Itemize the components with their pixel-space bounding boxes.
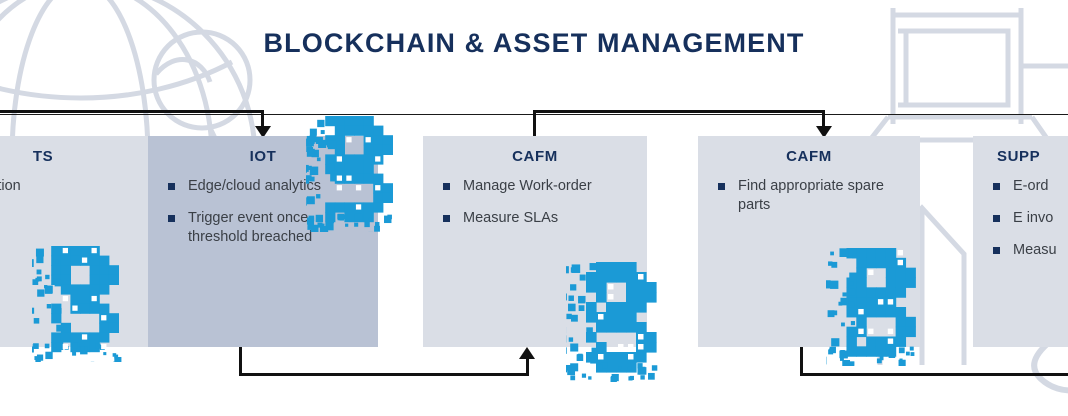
bullet-item: Edge/cloud analytics (162, 177, 364, 196)
connector-cafm2-to-supplier-horizontal (800, 373, 1068, 376)
process-box-cafm-2[interactable]: CAFM Find appropriate spare parts (698, 136, 920, 347)
page-title: BLOCKCHAIN & ASSET MANAGEMENT (0, 28, 1068, 59)
process-box-sensors[interactable]: TS tection k (0, 136, 148, 347)
connector-sensors-to-iot-horizontal (0, 110, 264, 113)
connector-iot-to-cafm1-horizontal (239, 373, 529, 376)
bullet-item: Manage Work-order (437, 177, 633, 196)
bullet-list-sensors: tection k (0, 177, 134, 228)
connector-cafm1-top-vertical (533, 110, 536, 138)
bullet-list-cafm-1: Manage Work-order Measure SLAs (437, 177, 633, 228)
connector-cafm2-bottom-vertical (800, 347, 803, 376)
bullet-item: k (0, 209, 134, 228)
bullet-item: Measu (987, 241, 1068, 260)
box-title-sensors: TS (0, 148, 134, 165)
bullet-list-supplier: E-ord E invo Measu (987, 177, 1068, 260)
process-box-cafm-1[interactable]: CAFM Manage Work-order Measure SLAs (423, 136, 647, 347)
process-box-supplier[interactable]: SUPP E-ord E invo Measu (973, 136, 1068, 347)
box-title-iot: IOT (162, 148, 364, 165)
connector-into-cafm1-vertical (526, 358, 529, 374)
connector-iot-bottom-vertical (239, 347, 242, 376)
bullet-item: tection (0, 177, 134, 196)
box-title-supplier: SUPP (987, 148, 1068, 165)
box-title-cafm-2: CAFM (712, 148, 906, 165)
bullet-list-iot: Edge/cloud analytics Trigger event once … (162, 177, 364, 247)
bullet-item: E-ord (987, 177, 1068, 196)
bullet-item: Measure SLAs (437, 209, 633, 228)
bullet-list-cafm-2: Find appropriate spare parts (712, 177, 906, 215)
bullet-item: Trigger event once threshold breached (162, 209, 364, 247)
diagram-canvas: BLOCKCHAIN & ASSET MANAGEMENT TS tection… (0, 0, 1068, 416)
bullet-item: Find appropriate spare parts (712, 177, 906, 215)
arrowhead-into-cafm1 (519, 347, 535, 359)
box-title-cafm-1: CAFM (437, 148, 633, 165)
bullet-item: E invo (987, 209, 1068, 228)
connector-cafm1-to-cafm2-horizontal (533, 110, 825, 113)
process-box-iot[interactable]: IOT Edge/cloud analytics Trigger event o… (148, 136, 378, 347)
